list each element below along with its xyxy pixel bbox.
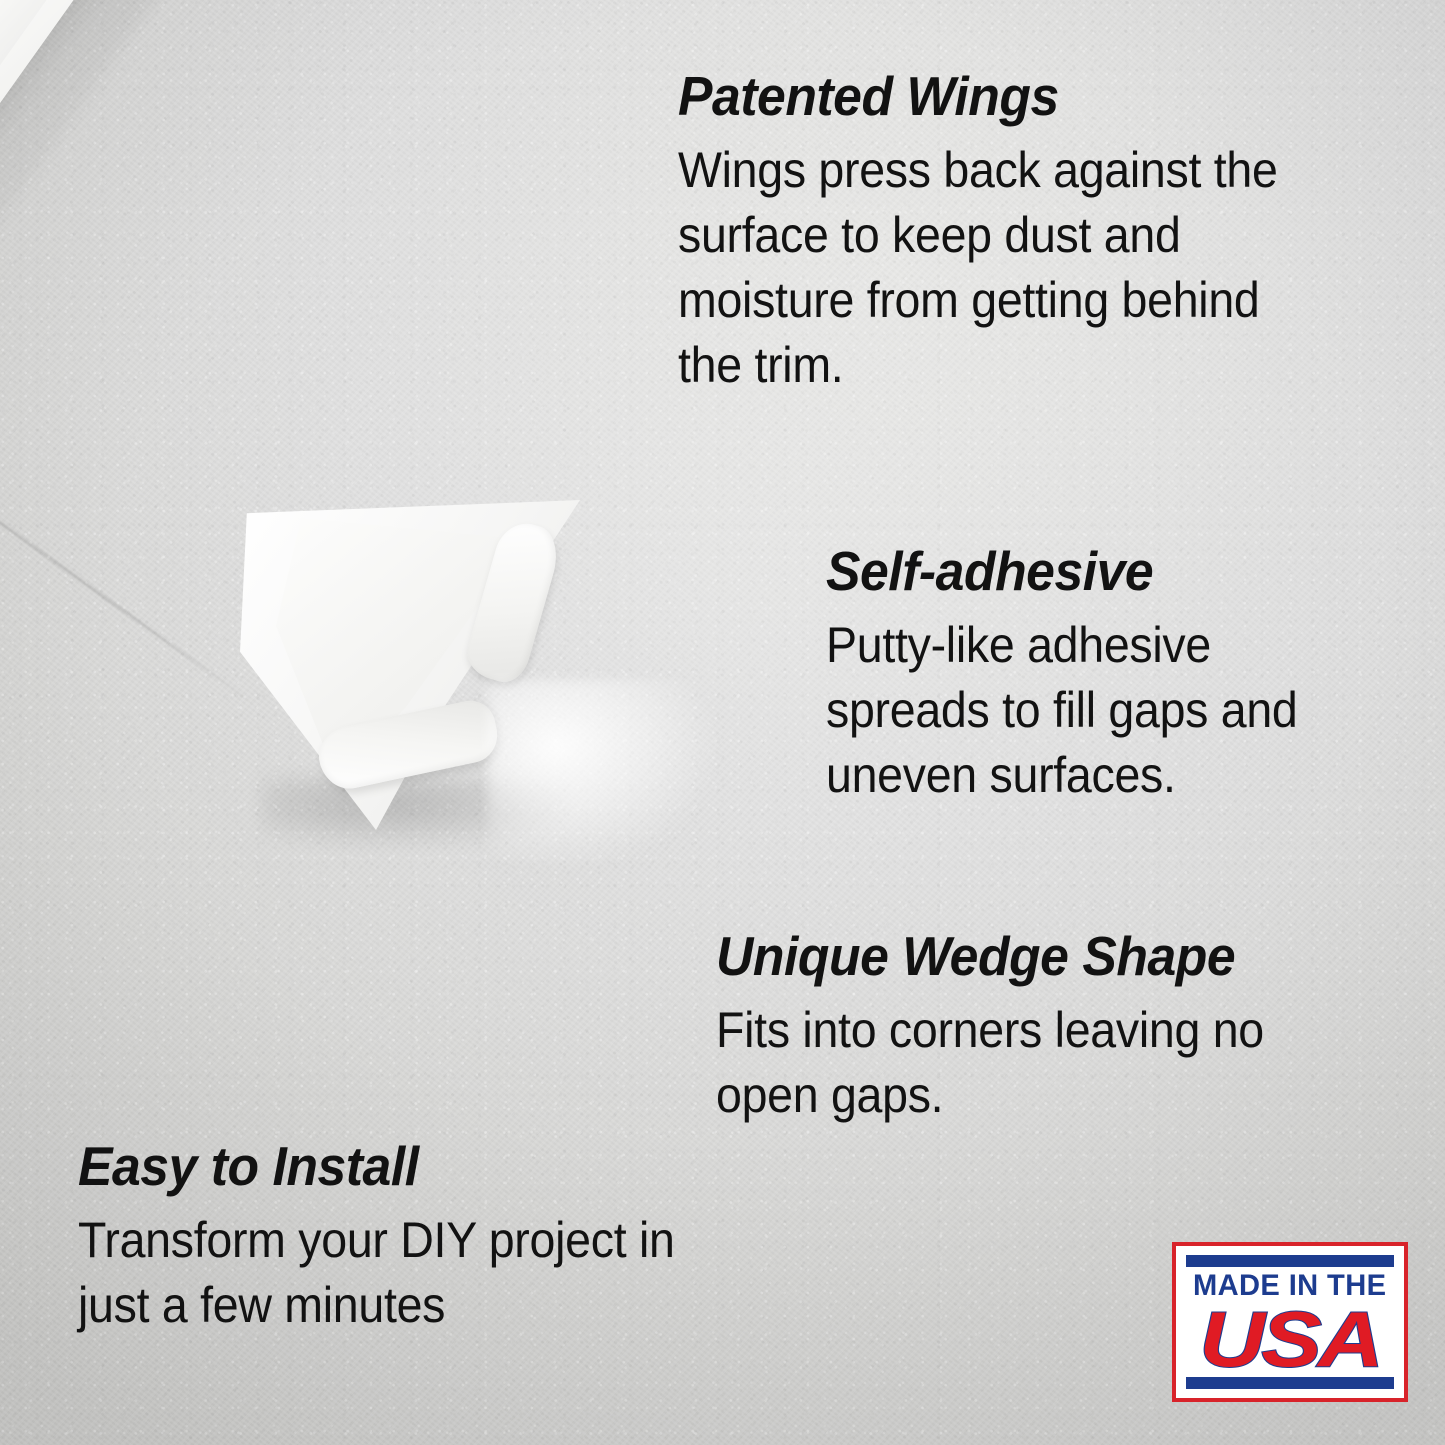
feature-heading-unique-wedge-shape: Unique Wedge Shape	[716, 928, 1355, 984]
feature-block-easy-to-install: Easy to Install Transform your DIY proje…	[78, 1138, 778, 1338]
made-in-usa-badge: MADE IN THE USA	[1172, 1242, 1408, 1402]
feature-heading-self-adhesive: Self-adhesive	[826, 543, 1352, 599]
feature-block-self-adhesive: Self-adhesive Putty-like adhesive spread…	[826, 543, 1386, 808]
feature-heading-patented-wings: Patented Wings	[678, 68, 1298, 124]
feature-block-patented-wings: Patented Wings Wings press back against …	[678, 68, 1338, 398]
infographic-canvas: Patented Wings Wings press back against …	[0, 0, 1445, 1445]
badge-usa-text: USA	[1200, 1305, 1381, 1374]
feature-block-unique-wedge-shape: Unique Wedge Shape Fits into corners lea…	[716, 928, 1396, 1128]
feature-body-easy-to-install: Transform your DIY project in just a few…	[78, 1208, 729, 1338]
feature-body-self-adhesive: Putty-like adhesive spreads to fill gaps…	[826, 613, 1347, 808]
feature-body-patented-wings: Wings press back against the surface to …	[678, 138, 1292, 398]
badge-top-bar	[1186, 1255, 1394, 1267]
feature-heading-easy-to-install: Easy to Install	[78, 1138, 736, 1194]
feature-body-unique-wedge-shape: Fits into corners leaving no open gaps.	[716, 998, 1348, 1128]
